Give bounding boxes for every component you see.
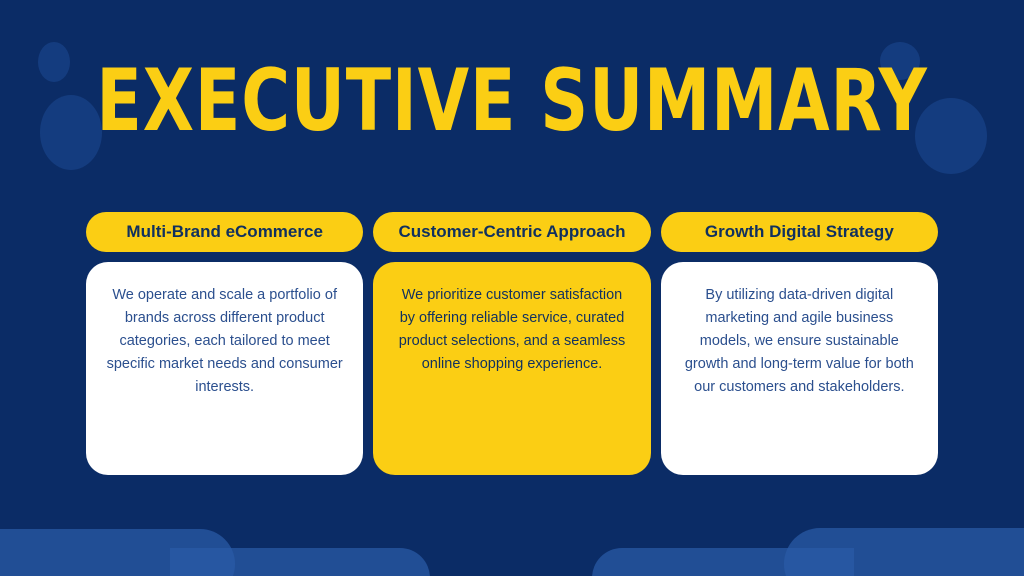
card-heading-pill: Growth Digital Strategy: [661, 212, 938, 252]
circle-top-left-small-icon: [38, 42, 70, 82]
page-title: EXECUTIVE SUMMARY: [72, 58, 953, 144]
pill-bottom-right-lower-icon: [592, 548, 854, 576]
card-heading-pill: Customer-Centric Approach: [373, 212, 650, 252]
pill-bottom-right-upper-icon: [784, 528, 1024, 576]
summary-card-customer-centric-approach: Customer-Centric Approach We prioritize …: [373, 212, 650, 475]
card-body-text: By utilizing data-driven digital marketi…: [661, 262, 938, 475]
card-body-text: We prioritize customer satisfaction by o…: [373, 262, 650, 475]
summary-card-multi-brand-ecommerce: Multi-Brand eCommerce We operate and sca…: [86, 212, 363, 475]
card-heading-pill: Multi-Brand eCommerce: [86, 212, 363, 252]
summary-cards-row: Multi-Brand eCommerce We operate and sca…: [86, 212, 938, 475]
card-body-text: We operate and scale a portfolio of bran…: [86, 262, 363, 475]
slide-canvas: EXECUTIVE SUMMARY Multi-Brand eCommerce …: [0, 0, 1024, 576]
summary-card-growth-digital-strategy: Growth Digital Strategy By utilizing dat…: [661, 212, 938, 475]
pill-bottom-left-upper-icon: [0, 529, 235, 576]
pill-bottom-left-lower-icon: [170, 548, 430, 576]
